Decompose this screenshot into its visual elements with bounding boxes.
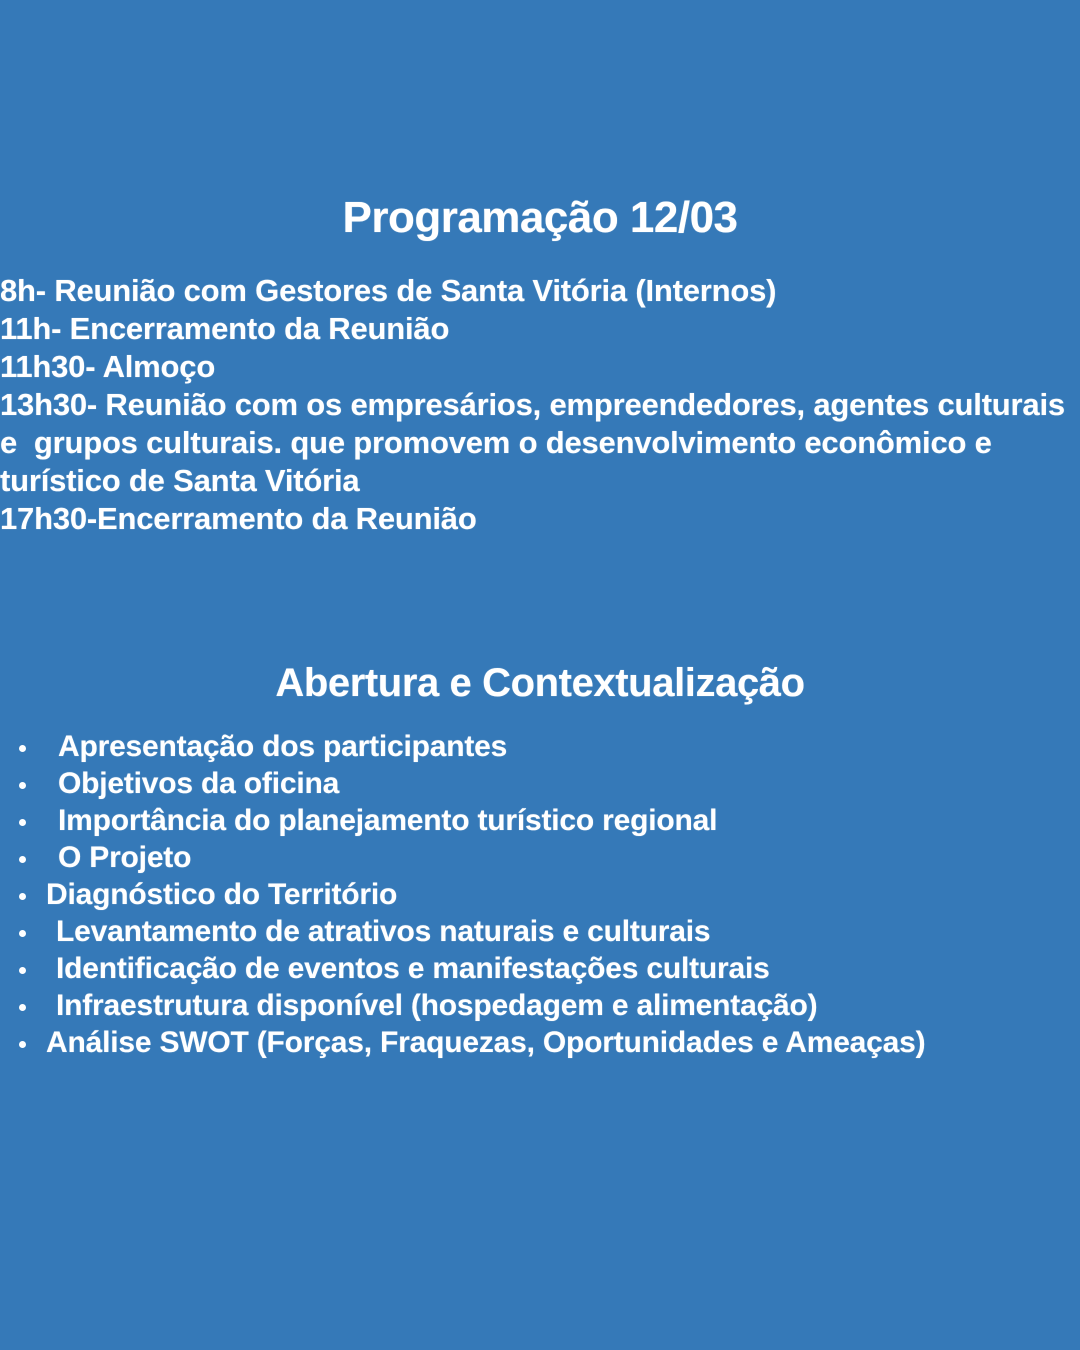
bullet-dot-icon [19,819,26,826]
list-item: Objetivos da oficina [0,765,1080,802]
schedule-block: 8h- Reunião com Gestores de Santa Vitóri… [0,272,1080,538]
agenda-poster: Programação 12/03 8h- Reunião com Gestor… [0,0,1080,1350]
list-item-label: Objetivos da oficina [46,765,339,802]
schedule-line: e grupos culturais. que promovem o desen… [0,424,1078,462]
list-item: Apresentação dos participantes [0,728,1080,765]
list-item: Identificação de eventos e manifestações… [0,950,1080,987]
list-item-label: O Projeto [46,839,191,876]
list-item: Análise SWOT (Forças, Fraquezas, Oportun… [0,1024,1080,1061]
list-item-label: Infraestrutura disponível (hospedagem e … [46,987,817,1024]
bullet-dot-icon [19,967,26,974]
schedule-line: 13h30- Reunião com os empresários, empre… [0,386,1078,424]
schedule-line: 8h- Reunião com Gestores de Santa Vitóri… [0,272,1078,310]
schedule-line: 11h30- Almoço [0,348,1078,386]
bullet-dot-icon [19,745,26,752]
bullet-dot-icon [19,1041,26,1048]
bullet-dot-icon [19,1004,26,1011]
page-title: Programação 12/03 [0,192,1080,244]
list-item-label: Identificação de eventos e manifestações… [46,950,770,987]
bullet-dot-icon [19,782,26,789]
list-item-label: Levantamento de atrativos naturais e cul… [46,913,710,950]
list-item: Infraestrutura disponível (hospedagem e … [0,987,1080,1024]
bullet-dot-icon [19,856,26,863]
list-item: Diagnóstico do Território [0,876,1080,913]
list-item: Importância do planejamento turístico re… [0,802,1080,839]
list-item-label: Importância do planejamento turístico re… [46,802,717,839]
bullet-dot-icon [19,893,26,900]
section-heading: Abertura e Contextualização [0,658,1080,708]
bullet-dot-icon [19,930,26,937]
list-item: Levantamento de atrativos naturais e cul… [0,913,1080,950]
list-item-label: Análise SWOT (Forças, Fraquezas, Oportun… [46,1024,925,1061]
schedule-line: 17h30-Encerramento da Reunião [0,500,1078,538]
schedule-line: turístico de Santa Vitória [0,462,1078,500]
list-item-label: Apresentação dos participantes [46,728,507,765]
agenda-topic-list: Apresentação dos participantes Objetivos… [0,728,1080,1061]
schedule-line: 11h- Encerramento da Reunião [0,310,1078,348]
list-item: O Projeto [0,839,1080,876]
list-item-label: Diagnóstico do Território [46,876,397,913]
